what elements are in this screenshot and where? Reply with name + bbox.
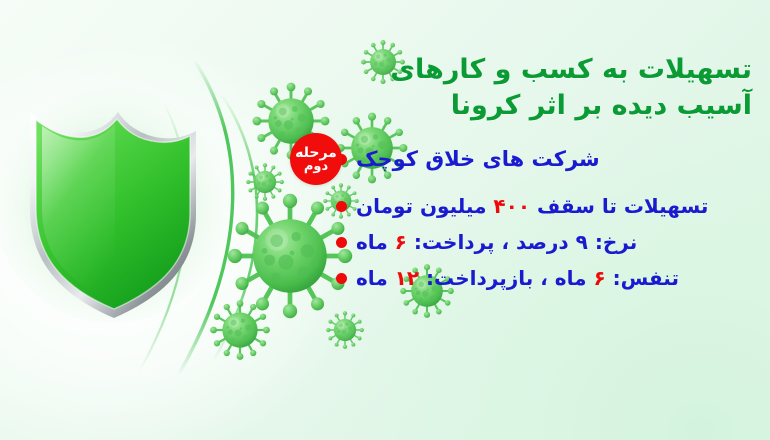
fact-rate-text: نرخ: ۹ درصد ، پرداخت: ۶ ماه <box>356 230 637 254</box>
promo-banner: تسهیلات به کسب و کارهای آسیب دیده بر اثر… <box>0 0 770 440</box>
facts-list: تسهیلات تا سقف ۴۰۰ میلیون تومان نرخ: ۹ د… <box>332 188 752 296</box>
subtitle-text: شرکت های خلاق کوچک <box>356 147 600 171</box>
bullet-dot-icon <box>336 237 347 248</box>
fact-grace: تنفس: ۶ ماه ، بازپرداخت: ۱۲ ماه <box>332 260 752 296</box>
text-column: تسهیلات به کسب و کارهای آسیب دیده بر اثر… <box>332 52 752 296</box>
stage-badge-line-2: دوم <box>304 160 328 173</box>
fact-rate: نرخ: ۹ درصد ، پرداخت: ۶ ماه <box>332 224 752 260</box>
stage-badge-line-1: مرحله <box>295 146 337 160</box>
main-title-line-1: تسهیلات به کسب و کارهای <box>332 52 752 88</box>
bullet-dot-icon <box>336 201 347 212</box>
fact-ceiling: تسهیلات تا سقف ۴۰۰ میلیون تومان <box>332 188 752 224</box>
main-title-line-2: آسیب دیده بر اثر کرونا <box>332 88 752 124</box>
main-title: تسهیلات به کسب و کارهای آسیب دیده بر اثر… <box>332 52 752 124</box>
stage-badge: مرحله دوم <box>290 133 342 185</box>
subtitle-row: مرحله دوم شرکت های خلاق کوچک <box>332 136 752 182</box>
fact-grace-text: تنفس: ۶ ماه ، بازپرداخت: ۱۲ ماه <box>356 266 679 290</box>
fact-ceiling-text: تسهیلات تا سقف ۴۰۰ میلیون تومان <box>356 194 708 218</box>
bullet-dot-icon <box>336 273 347 284</box>
